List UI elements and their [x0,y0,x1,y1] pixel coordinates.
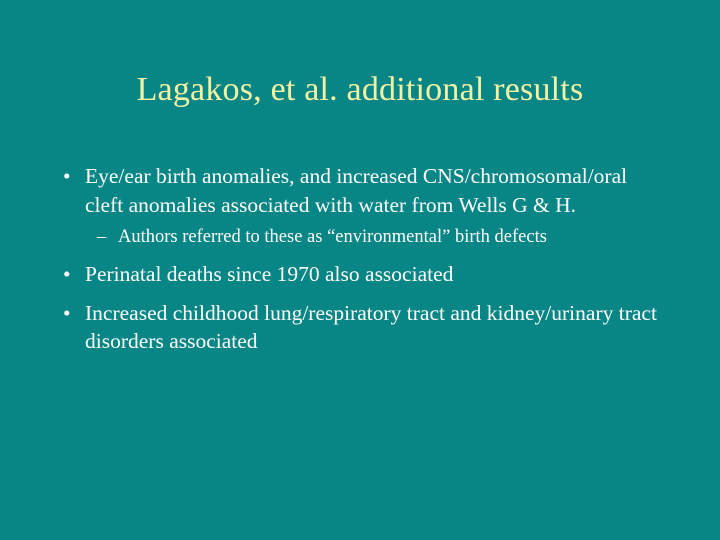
bullet-item-1-text: Eye/ear birth anomalies, and increased C… [85,162,666,219]
sub-bullet-item-1: – Authors referred to these as “environm… [97,225,666,250]
bullet-dot-icon: • [63,260,71,289]
dash-marker-icon: – [97,225,106,250]
bullet-item-3: • Increased childhood lung/respiratory t… [58,299,666,356]
sub-bullet-item-1-text: Authors referred to these as “environmen… [118,225,666,250]
presentation-slide: Lagakos, et al. additional results • Eye… [0,0,720,540]
bullet-dot-icon: • [63,162,71,191]
bullet-item-3-text: Increased childhood lung/respiratory tra… [85,299,666,356]
bullet-item-1: • Eye/ear birth anomalies, and increased… [58,162,666,219]
bullet-item-2-text: Perinatal deaths since 1970 also associa… [85,260,666,289]
bullet-dot-icon: • [63,299,71,328]
slide-body-content: • Eye/ear birth anomalies, and increased… [58,162,666,358]
slide-title: Lagakos, et al. additional results [0,68,720,112]
bullet-item-2: • Perinatal deaths since 1970 also assoc… [58,260,666,289]
